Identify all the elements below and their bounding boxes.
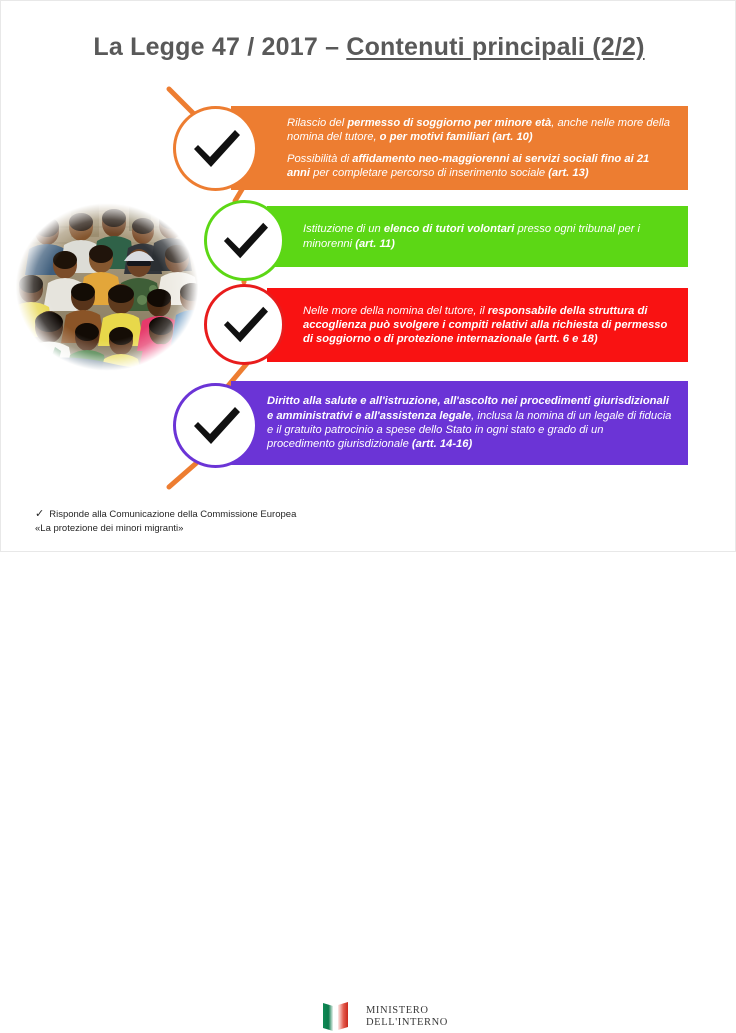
footer: ✓Risponde alla Comunicazione della Commi… xyxy=(1,489,736,553)
banner-4-paragraph-1: Diritto alla salute e all'istruzione, al… xyxy=(267,394,674,451)
page-title-underlined: Contenuti principali (2/2) xyxy=(346,33,644,61)
page-title: La Legge 47 / 2017 – Contenuti principal… xyxy=(1,33,736,62)
banner-1-paragraph-1: Rilascio del permesso di soggiorno per m… xyxy=(287,116,674,145)
text-run-bold: elenco di tutori volontari xyxy=(384,223,515,235)
banner-3-paragraph-1: Nelle more della nomina del tutore, il r… xyxy=(303,304,674,347)
text-run-bold: permesso di soggiorno per minore età xyxy=(347,117,551,129)
text-run-bold: (art. 11) xyxy=(355,238,395,250)
photo-disc xyxy=(9,197,205,377)
check-circle-2 xyxy=(204,200,285,281)
check-icon xyxy=(188,402,244,450)
text-run: Possibilità di xyxy=(287,153,352,165)
check-icon xyxy=(188,125,244,173)
logo-line-2: DELL'INTERNO xyxy=(366,1017,448,1029)
footer-note: ✓Risponde alla Comunicazione della Commi… xyxy=(35,507,335,536)
content-banner-1: Rilascio del permesso di soggiorno per m… xyxy=(231,106,688,190)
check-circle-3 xyxy=(204,284,285,365)
text-run-bold: o per motivi familiari (art. 10) xyxy=(380,131,533,143)
footer-note-line-2: «La protezione dei minori migranti» xyxy=(35,522,335,536)
footer-note-line-1: Risponde alla Comunicazione della Commis… xyxy=(49,509,296,520)
logo-wordmark: MINISTERO DELL'INTERNO xyxy=(366,1005,448,1028)
check-icon xyxy=(218,218,272,264)
check-icon xyxy=(218,302,272,348)
text-run-bold: (artt. 14-16) xyxy=(412,438,472,450)
logo-line-1: MINISTERO xyxy=(366,1005,448,1017)
text-run: Rilascio del xyxy=(287,117,347,129)
check-circle-4 xyxy=(173,383,258,468)
slide-canvas: La Legge 47 / 2017 – Contenuti principal… xyxy=(0,0,736,552)
text-run: Nelle more della nomina del tutore, il xyxy=(303,305,488,317)
group-of-young-migrants-photo xyxy=(9,197,205,377)
content-banner-2: Istituzione di un elenco di tutori volon… xyxy=(267,206,688,267)
page-title-plain: La Legge 47 / 2017 – xyxy=(93,33,346,61)
content-banner-4: Diritto alla salute e all'istruzione, al… xyxy=(231,381,688,465)
text-run: per completare percorso di inserimento s… xyxy=(310,167,548,179)
content-banner-3: Nelle more della nomina del tutore, il r… xyxy=(267,288,688,362)
text-run-bold: (art. 13) xyxy=(548,167,588,179)
check-icon: ✓ xyxy=(35,508,44,520)
check-circle-1 xyxy=(173,106,258,191)
banner-2-paragraph-1: Istituzione di un elenco di tutori volon… xyxy=(303,222,674,251)
photo-artwork xyxy=(9,197,205,377)
banner-1-paragraph-2: Possibilità di affidamento neo-maggioren… xyxy=(287,152,674,181)
ministero-interno-logo: MINISTERO DELL'INTERNO xyxy=(321,1001,471,1033)
italian-flag-icon xyxy=(321,1001,357,1031)
text-run: Istituzione di un xyxy=(303,223,384,235)
